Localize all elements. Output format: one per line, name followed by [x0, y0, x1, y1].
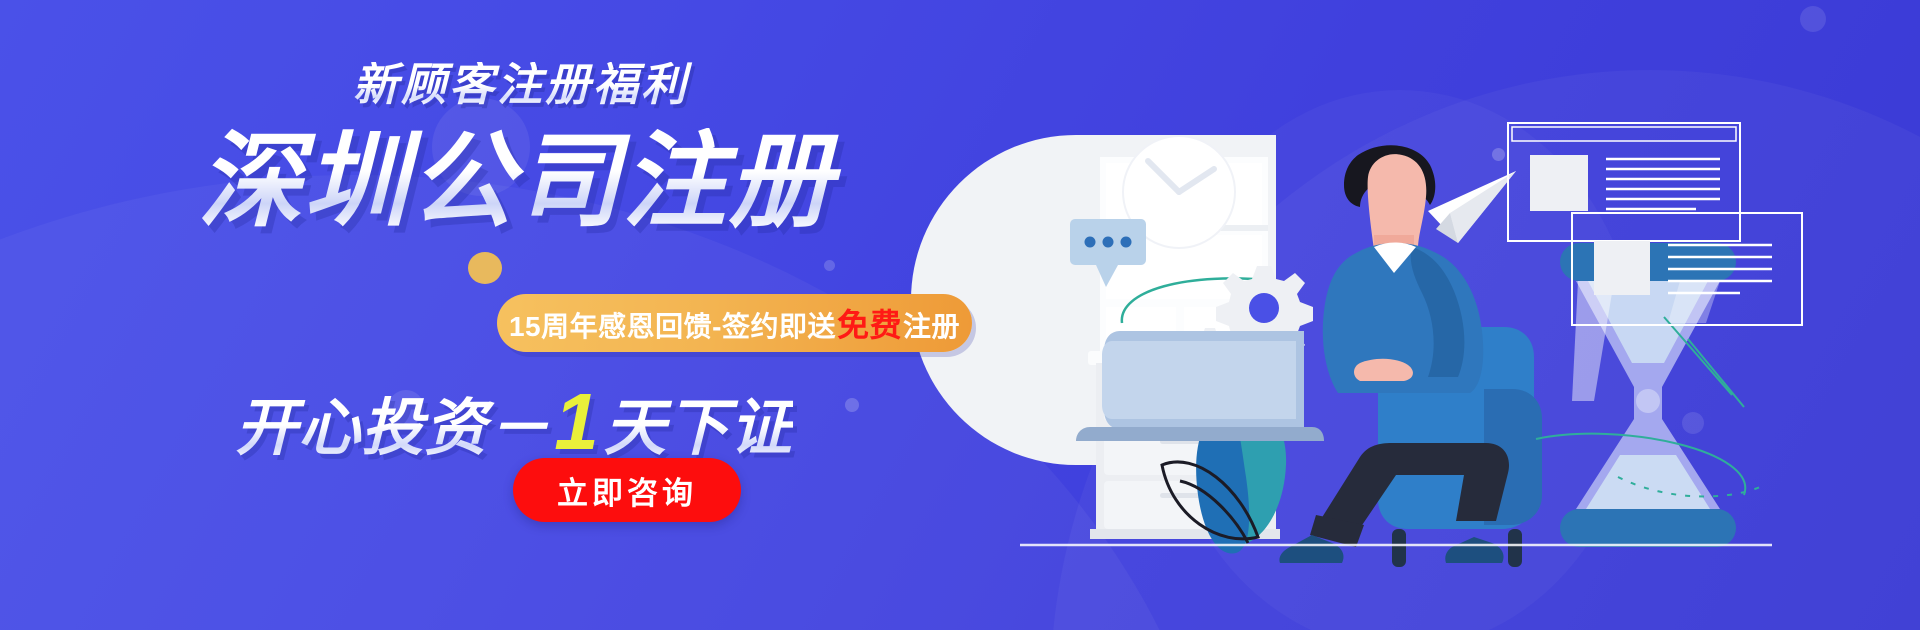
- hero-illustration: [1060, 95, 1920, 575]
- background-dot: [1800, 6, 1826, 32]
- promo-pill: 15周年感恩回馈-签约即送免费注册: [497, 294, 972, 352]
- tagline-before: 开心投资－: [235, 394, 550, 463]
- promo-pill-text: 15周年感恩回馈-签约即送免费注册: [509, 300, 960, 346]
- banner-tagline: 开心投资－1天下证: [0, 382, 1010, 462]
- promo-lead: 15周年感恩回馈-签约即送: [509, 305, 836, 345]
- tagline-number: 1: [550, 377, 604, 466]
- promo-banner: 新顾客注册福利 深圳公司注册 15周年感恩回馈-签约即送免费注册 开心投资－1天…: [0, 0, 1920, 630]
- consult-now-button[interactable]: 立即咨询: [513, 458, 741, 522]
- document-card-top: [1508, 123, 1740, 241]
- banner-headline: 深圳公司注册: [0, 128, 1010, 236]
- paper-airplane-icon: [1428, 171, 1516, 243]
- promo-trail: 注册: [903, 305, 960, 345]
- banner-copy: 新顾客注册福利 深圳公司注册 15周年感恩回馈-签约即送免费注册 开心投资－1天…: [0, 0, 1010, 630]
- tagline-after: 天下证: [604, 394, 793, 463]
- banner-eyebrow: 新顾客注册福利: [0, 62, 1010, 107]
- promo-highlight: 免费: [836, 300, 903, 346]
- laptop: [1076, 331, 1324, 441]
